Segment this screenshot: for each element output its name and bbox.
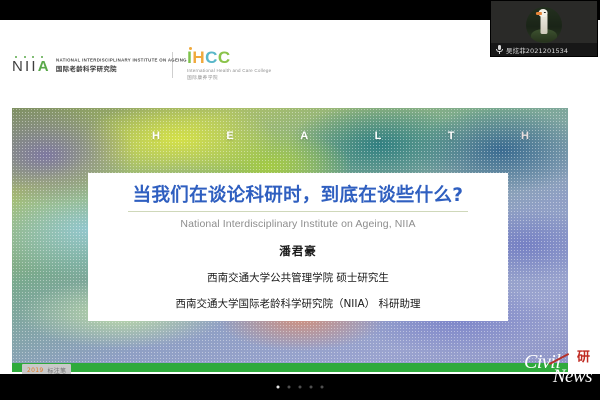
annotation-badge-value: 2019 <box>27 367 43 374</box>
title-divider <box>128 211 468 212</box>
pagination-dot[interactable] <box>310 386 313 389</box>
participant-name-bar: 吴炫菲2021201534 <box>491 43 597 56</box>
ihcc-letters: IHCC <box>187 49 255 66</box>
annotation-badge-label: 标注笔 <box>47 366 66 374</box>
health-letter: H <box>152 130 161 142</box>
pagination-dot[interactable] <box>288 386 291 389</box>
ihcc-chinese-name: 国际康养学院 <box>187 76 255 81</box>
niia-wordmark: NIIA <box>12 56 51 74</box>
logo-divider <box>172 52 173 78</box>
participant-name: 吴炫菲2021201534 <box>506 45 568 55</box>
health-letter: L <box>375 130 383 142</box>
pagination-dot[interactable] <box>321 386 324 389</box>
slide-artwork-background: H E A L T H 当我们在谈论科研时，到底在谈些什么? National … <box>12 108 568 372</box>
goose-eye-shape <box>544 12 546 14</box>
niia-wordblock: NATIONAL INTERDISCIPLINARY INSTITUTE ON … <box>56 60 158 74</box>
pagination-dot[interactable] <box>277 386 280 389</box>
health-letter: A <box>300 130 309 142</box>
slide-title: 当我们在谈论科研时，到底在谈些什么? <box>133 185 464 206</box>
presenter-name: 潘君豪 <box>279 243 317 259</box>
niia-letters: NIIA <box>12 59 51 74</box>
slide-logo-header: NIIA NATIONAL INTERDISCIPLINARY INSTITUT… <box>12 46 568 84</box>
shared-screen-viewport[interactable]: NIIA NATIONAL INTERDISCIPLINARY INSTITUT… <box>0 20 600 374</box>
ihcc-dot-icon <box>189 47 192 50</box>
health-letter: H <box>521 130 530 142</box>
pagination-dot[interactable] <box>299 386 302 389</box>
participant-video-tile[interactable]: 吴炫菲2021201534 <box>490 0 598 57</box>
participant-avatar <box>526 7 562 43</box>
bottom-bar <box>0 374 600 400</box>
presenter-affiliation: 西南交通大学国际老龄科学研究院（NIIA） 科研助理 <box>175 296 420 311</box>
slide-green-footer-bar <box>12 363 568 372</box>
health-banner-word: H E A L T H <box>12 130 568 142</box>
niia-logo: NIIA NATIONAL INTERDISCIPLINARY INSTITUT… <box>12 56 158 74</box>
health-letter: T <box>448 130 456 142</box>
civil-news-watermark: 研 Civil News <box>522 354 594 396</box>
slide-subtitle: National Interdisciplinary Institute on … <box>180 218 415 230</box>
watermark-stamp-character: 研 <box>577 352 590 363</box>
niia-english-name: NATIONAL INTERDISCIPLINARY INSTITUTE ON … <box>56 59 187 64</box>
slide-title-card: 当我们在谈论科研时，到底在谈些什么? National Interdiscipl… <box>88 173 508 321</box>
annotation-tool-badge[interactable]: 2019 标注笔 <box>22 364 71 374</box>
microphone-icon <box>496 45 503 54</box>
ihcc-logo: IHCC International Health and Care Colle… <box>187 49 255 80</box>
goose-beak-shape <box>536 12 542 15</box>
presenter-affiliation: 西南交通大学公共管理学院 硕士研究生 <box>207 270 389 285</box>
pagination-dots[interactable] <box>277 386 324 389</box>
niia-chinese-name: 国际老龄科学研究院 <box>56 66 158 73</box>
health-letter: E <box>226 130 234 142</box>
ihcc-english-name: International Health and Care College <box>187 68 271 74</box>
